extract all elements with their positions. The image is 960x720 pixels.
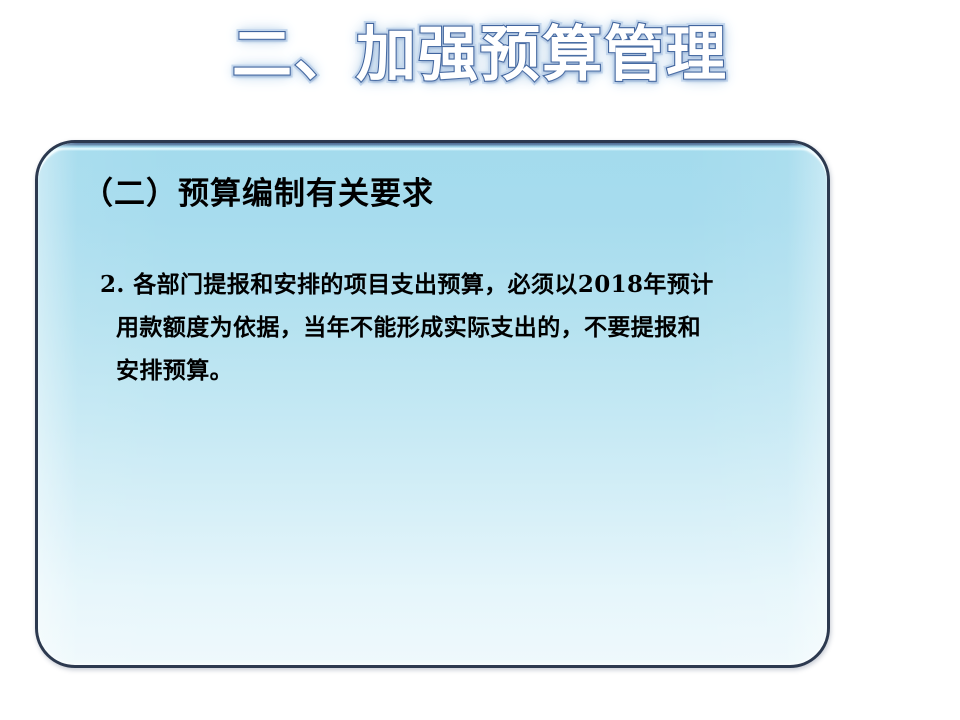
slide-title-text: 二、加强预算管理 xyxy=(0,18,960,92)
body-line-1: 2. 各部门提报和安排的项目支出预算，必须以2018年预计 xyxy=(100,263,760,306)
body-line-3: 安排预算。 xyxy=(100,349,760,392)
panel-heading: （二）预算编制有关要求 xyxy=(82,173,434,215)
content-panel-inner: （二）预算编制有关要求 2. 各部门提报和安排的项目支出预算，必须以2018年预… xyxy=(38,143,827,665)
content-panel: （二）预算编制有关要求 2. 各部门提报和安排的项目支出预算，必须以2018年预… xyxy=(35,140,830,668)
slide-canvas: 二、加强预算管理 二、加强预算管理 （二）预算编制有关要求 2. 各部门提报和安… xyxy=(0,0,960,720)
slide-title-glow: 二、加强预算管理 xyxy=(0,18,960,92)
body-paragraph: 2. 各部门提报和安排的项目支出预算，必须以2018年预计 用款额度为依据，当年… xyxy=(100,263,760,392)
body-line-2: 用款额度为依据，当年不能形成实际支出的，不要提报和 xyxy=(100,306,760,349)
